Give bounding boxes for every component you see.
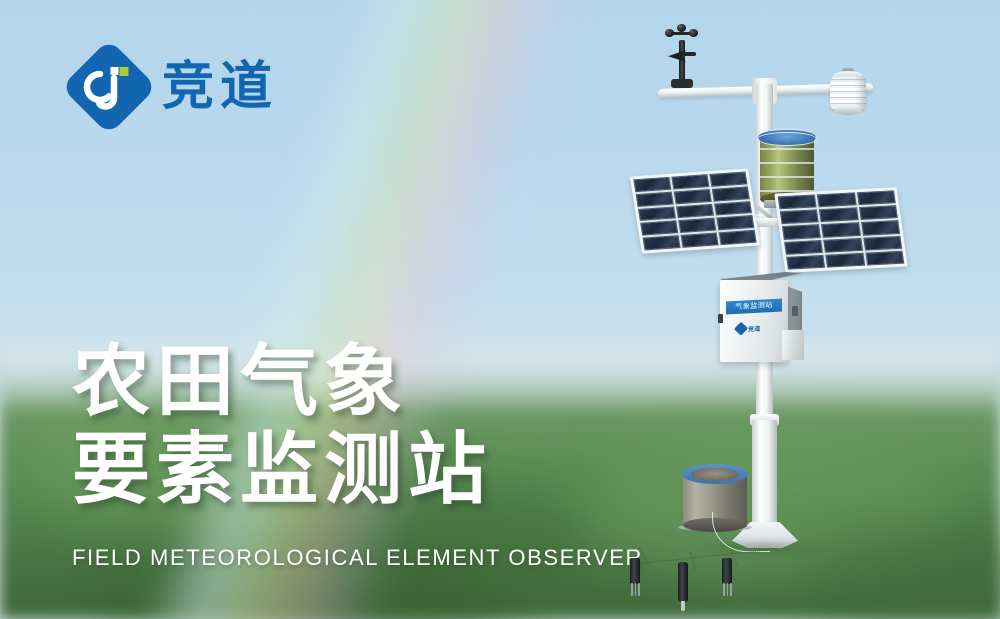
control-box-logo: 竞道 (736, 321, 772, 335)
headline-line-1: 农田气象 (72, 338, 492, 426)
logo-monogram-icon (70, 48, 148, 126)
rain-gauge-opening (691, 468, 739, 481)
anemometer-cup (677, 24, 686, 32)
evaporation-rib (760, 176, 814, 178)
evaporation-rib (760, 148, 814, 150)
shield-bottom (834, 106, 862, 115)
page-title: 农田气象 要素监测站 (72, 338, 492, 514)
solar-cell-grid (778, 190, 905, 269)
soil-probe-body (722, 558, 732, 584)
soil-probe-pin (730, 583, 732, 596)
soil-probe-pin (727, 583, 729, 596)
brand-logo: 竞道 (70, 48, 278, 126)
soil-probe-pin (635, 583, 637, 596)
weather-station-illustration: 气象监测站 竞道 (600, 0, 1000, 619)
control-box-logo-icon (734, 322, 748, 336)
wind-sensor-base (671, 79, 693, 88)
control-box-latch (718, 314, 723, 323)
evaporation-rim (757, 132, 817, 146)
soil-probe-3 (722, 558, 732, 584)
control-box-battery-housing (782, 330, 804, 360)
solar-panel-left (630, 168, 760, 253)
soil-probe-2 (678, 562, 688, 602)
wind-sensor-icon (662, 22, 702, 88)
wind-vane-tail (682, 52, 696, 56)
control-box-vent (792, 306, 798, 316)
anemometer-cup (689, 29, 698, 37)
solar-cell-grid (633, 172, 756, 251)
soil-probe-1 (630, 558, 640, 584)
anemometer-cup (665, 29, 674, 37)
soil-probe-tip (681, 601, 685, 611)
control-box-logo-text: 竞道 (748, 323, 761, 333)
shield-louvers (830, 76, 866, 110)
promo-banner: 竞道 农田气象 要素监测站 FIELD METEOROLOGICAL ELEME… (0, 0, 1000, 619)
headline-line-2: 要素监测站 (72, 426, 492, 514)
soil-probe-pin (723, 583, 725, 596)
jingdao-diamond-logo-icon (70, 48, 148, 126)
radiation-shield-icon (828, 70, 868, 116)
headline-subtitle: FIELD METEOROLOGICAL ELEMENT OBSERVER (72, 545, 643, 571)
soil-probe-body (678, 562, 688, 602)
soil-probe-pin (631, 583, 633, 596)
brand-name: 竞道 (162, 61, 278, 113)
solar-panel-right (774, 187, 907, 273)
soil-probe-body (630, 558, 640, 584)
control-box: 气象监测站 竞道 (720, 272, 808, 364)
soil-probe-pin (638, 583, 640, 596)
evaporation-rib (760, 162, 814, 164)
